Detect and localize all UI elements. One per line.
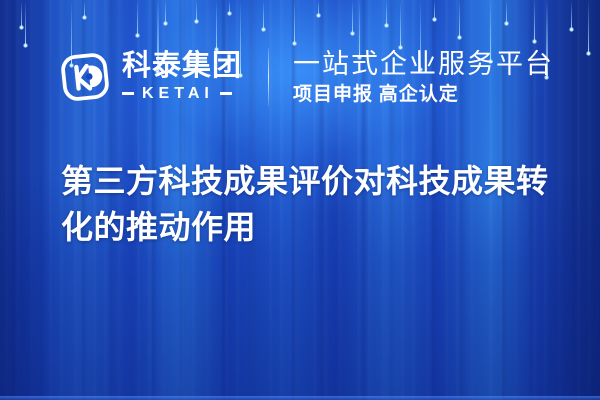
meteor-streak — [84, 0, 85, 18]
meteor-streak — [165, 0, 166, 24]
meteor-streak — [21, 0, 22, 28]
meteor-streak — [263, 0, 264, 30]
tagline-primary: 一站式企业服务平台 — [293, 49, 554, 80]
wordmark-rule-right — [220, 92, 232, 95]
promo-banner: 科泰集团 KETAI 一站式企业服务平台 项目申报 高企认定 第三方科技成果评价… — [0, 0, 600, 400]
meteor-streak — [229, 0, 230, 14]
brand-name-en: KETAI — [134, 85, 220, 103]
brand-name-cn: 科泰集团 — [122, 51, 242, 81]
meteor-streak — [534, 0, 535, 42]
meteor-streak — [459, 0, 460, 38]
brand-logo: 科泰集团 KETAI — [58, 50, 242, 104]
meteor-streak — [352, 0, 353, 34]
banner-header: 科泰集团 KETAI 一站式企业服务平台 项目申报 高企认定 — [0, 38, 600, 116]
wordmark-rule-left — [122, 92, 134, 95]
bottom-edge-highlight — [0, 396, 600, 400]
meteor-streak — [506, 0, 507, 24]
meteor-streak — [434, 0, 435, 20]
brand-name-en-row: KETAI — [122, 85, 242, 103]
brand-wordmark: 科泰集团 KETAI — [122, 51, 242, 102]
page-title: 第三方科技成果评价对科技成果转化的推动作用 — [61, 158, 571, 251]
ketai-diamond-kd-logo-icon — [58, 50, 112, 104]
meteor-streak — [386, 0, 387, 26]
meteor-streak — [137, 0, 138, 36]
meteor-streak — [571, 0, 572, 30]
meteor-streak — [196, 0, 197, 22]
header-tagline: 一站式企业服务平台 项目申报 高企认定 — [293, 49, 554, 106]
meteor-streak — [318, 0, 319, 16]
tagline-secondary: 项目申报 高企认定 — [293, 84, 554, 106]
header-divider — [268, 48, 269, 106]
